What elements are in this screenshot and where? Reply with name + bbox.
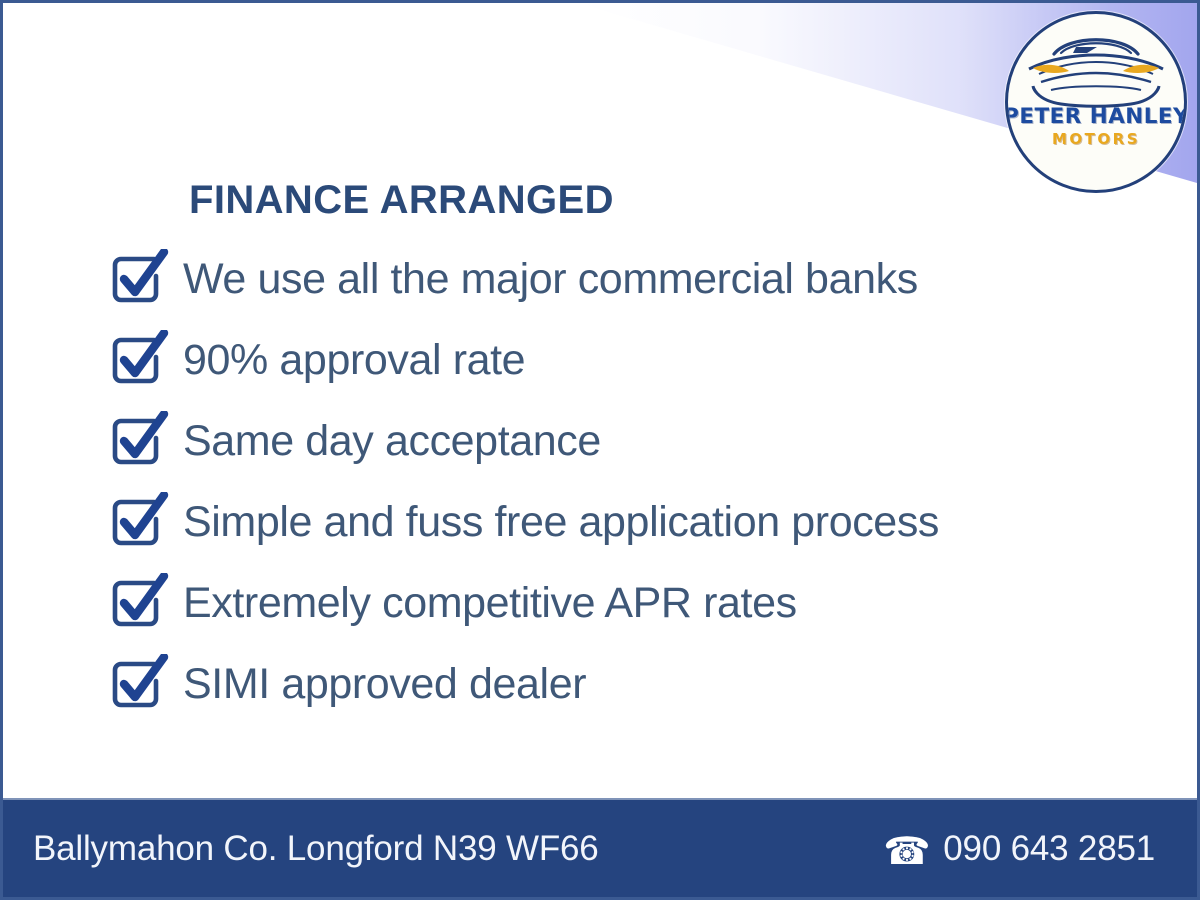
logo-brand-sub: MOTORS — [1052, 132, 1140, 147]
list-item: Extremely competitive APR rates — [107, 563, 1107, 644]
list-item: SIMI approved dealer — [107, 644, 1107, 725]
list-item-label: SIMI approved dealer — [183, 663, 586, 706]
logo-brand-name: PETER HANLEY — [1005, 106, 1187, 127]
footer-address: Ballymahon Co. Longford N39 WF66 — [33, 829, 599, 869]
list-item: Same day acceptance — [107, 401, 1107, 482]
checkbox-checked-icon — [107, 249, 169, 311]
checkbox-checked-icon — [107, 492, 169, 554]
finance-arranged-poster: PETER HANLEY MOTORS FINANCE ARRANGED We … — [0, 0, 1200, 900]
list-item-label: Same day acceptance — [183, 420, 601, 463]
list-item-label: We use all the major commercial banks — [183, 258, 918, 301]
benefits-checklist: We use all the major commercial banks 90… — [107, 239, 1107, 725]
list-item-label: 90% approval rate — [183, 339, 525, 382]
dealer-logo-badge[interactable]: PETER HANLEY MOTORS — [1005, 11, 1187, 193]
footer-phone-number[interactable]: 090 643 2851 — [943, 829, 1155, 869]
list-item-label: Simple and fuss free application process — [183, 501, 939, 544]
car-front-emblem-icon — [1021, 24, 1171, 110]
list-item: We use all the major commercial banks — [107, 239, 1107, 320]
checkbox-checked-icon — [107, 411, 169, 473]
page-title: FINANCE ARRANGED — [189, 178, 614, 223]
list-item: Simple and fuss free application process — [107, 482, 1107, 563]
contact-footer-bar: Ballymahon Co. Longford N39 WF66 ☎ 090 6… — [3, 798, 1197, 897]
checkbox-checked-icon — [107, 654, 169, 716]
telephone-icon: ☎ — [883, 832, 925, 866]
checkbox-checked-icon — [107, 330, 169, 392]
checkbox-checked-icon — [107, 573, 169, 635]
list-item-label: Extremely competitive APR rates — [183, 582, 797, 625]
list-item: 90% approval rate — [107, 320, 1107, 401]
footer-phone-block[interactable]: ☎ 090 643 2851 — [883, 829, 1155, 869]
